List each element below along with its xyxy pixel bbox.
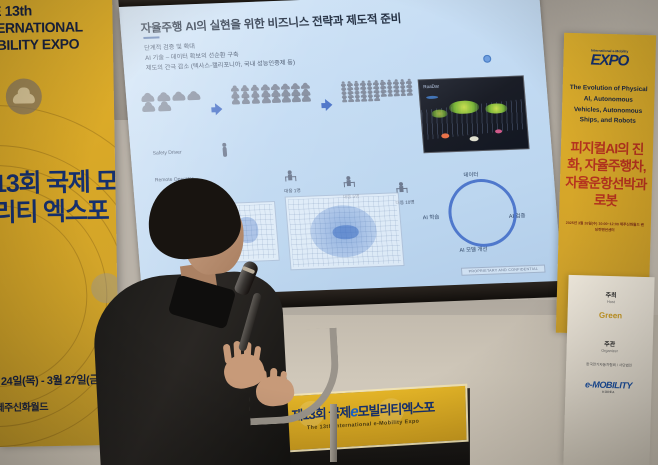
safety-driver-label: Safety Driver bbox=[153, 150, 183, 159]
organizer-name: 한국전기자동차협회 / 사단법인 bbox=[572, 362, 646, 369]
podium-korean-tail: 모빌리티엑스포 bbox=[357, 400, 434, 420]
speaker bbox=[120, 178, 350, 465]
cycle-label-validation: AI 검증 bbox=[509, 211, 526, 220]
host-logo-mark: Green bbox=[589, 310, 631, 325]
right-banner-korean-theme: 피지컬AI의 진화, 자율주행차, 자율운항선박과 로봇 bbox=[563, 139, 649, 212]
slide-marker-icon bbox=[483, 55, 492, 63]
car-group-medium bbox=[230, 84, 314, 106]
slide-confidential-note: PROPRIETARY AND CONFIDENTIAL bbox=[461, 265, 545, 276]
right-sponsor-banner: 주최 Host Green 주관 Organizer 한국전기자동차협회 / 사… bbox=[563, 275, 654, 465]
cycle-label-model-improve: AI 모델 개선 bbox=[459, 245, 488, 254]
right-banner-meta: 2025년 3월 26일(수) 10:00~12:00 제주신화월드 랜딩컨벤션… bbox=[565, 221, 645, 235]
lidar-tag-label: RoaDar bbox=[423, 84, 439, 90]
cycle-label-data: 데이터 bbox=[463, 170, 479, 179]
left-banner-korean-title: 제13회 국제 모빌리티 엑스포 bbox=[0, 168, 120, 229]
right-banner-english-theme: The Evolution of Physical AI, Autonomous… bbox=[569, 83, 648, 127]
microphone-stem bbox=[330, 404, 337, 462]
arrow-2-icon bbox=[325, 99, 333, 111]
arrow-1-icon bbox=[215, 103, 223, 115]
lidar-visualization-image: RoaDar bbox=[418, 75, 530, 153]
safety-driver-figure bbox=[222, 147, 227, 157]
emobility-logo: e-MOBILITY KOREA bbox=[577, 379, 639, 395]
expo-logo: International e-Mobility EXPO bbox=[580, 49, 638, 69]
conference-photo-scene: 자율주행 AI의 실현을 위한 비즈니스 전략과 제도적 준비 단계적 검증 및… bbox=[0, 0, 658, 465]
emobility-logo-text: e-MOBILITY bbox=[585, 379, 632, 390]
ai-improvement-cycle-diagram: 데이터 AI 검증 AI 모델 개선 AI 학습 bbox=[421, 167, 538, 257]
expo-logo-text: EXPO bbox=[590, 52, 628, 70]
left-banner-english-title: THE 13th INTERNATIONAL MOBILITY EXPO bbox=[0, 1, 120, 55]
car-group-large bbox=[340, 79, 420, 102]
vehicle-scaling-diagram bbox=[140, 79, 444, 142]
title-underline bbox=[143, 36, 159, 38]
car-group-small bbox=[140, 92, 204, 113]
cycle-label-learning: AI 학습 bbox=[422, 213, 439, 222]
